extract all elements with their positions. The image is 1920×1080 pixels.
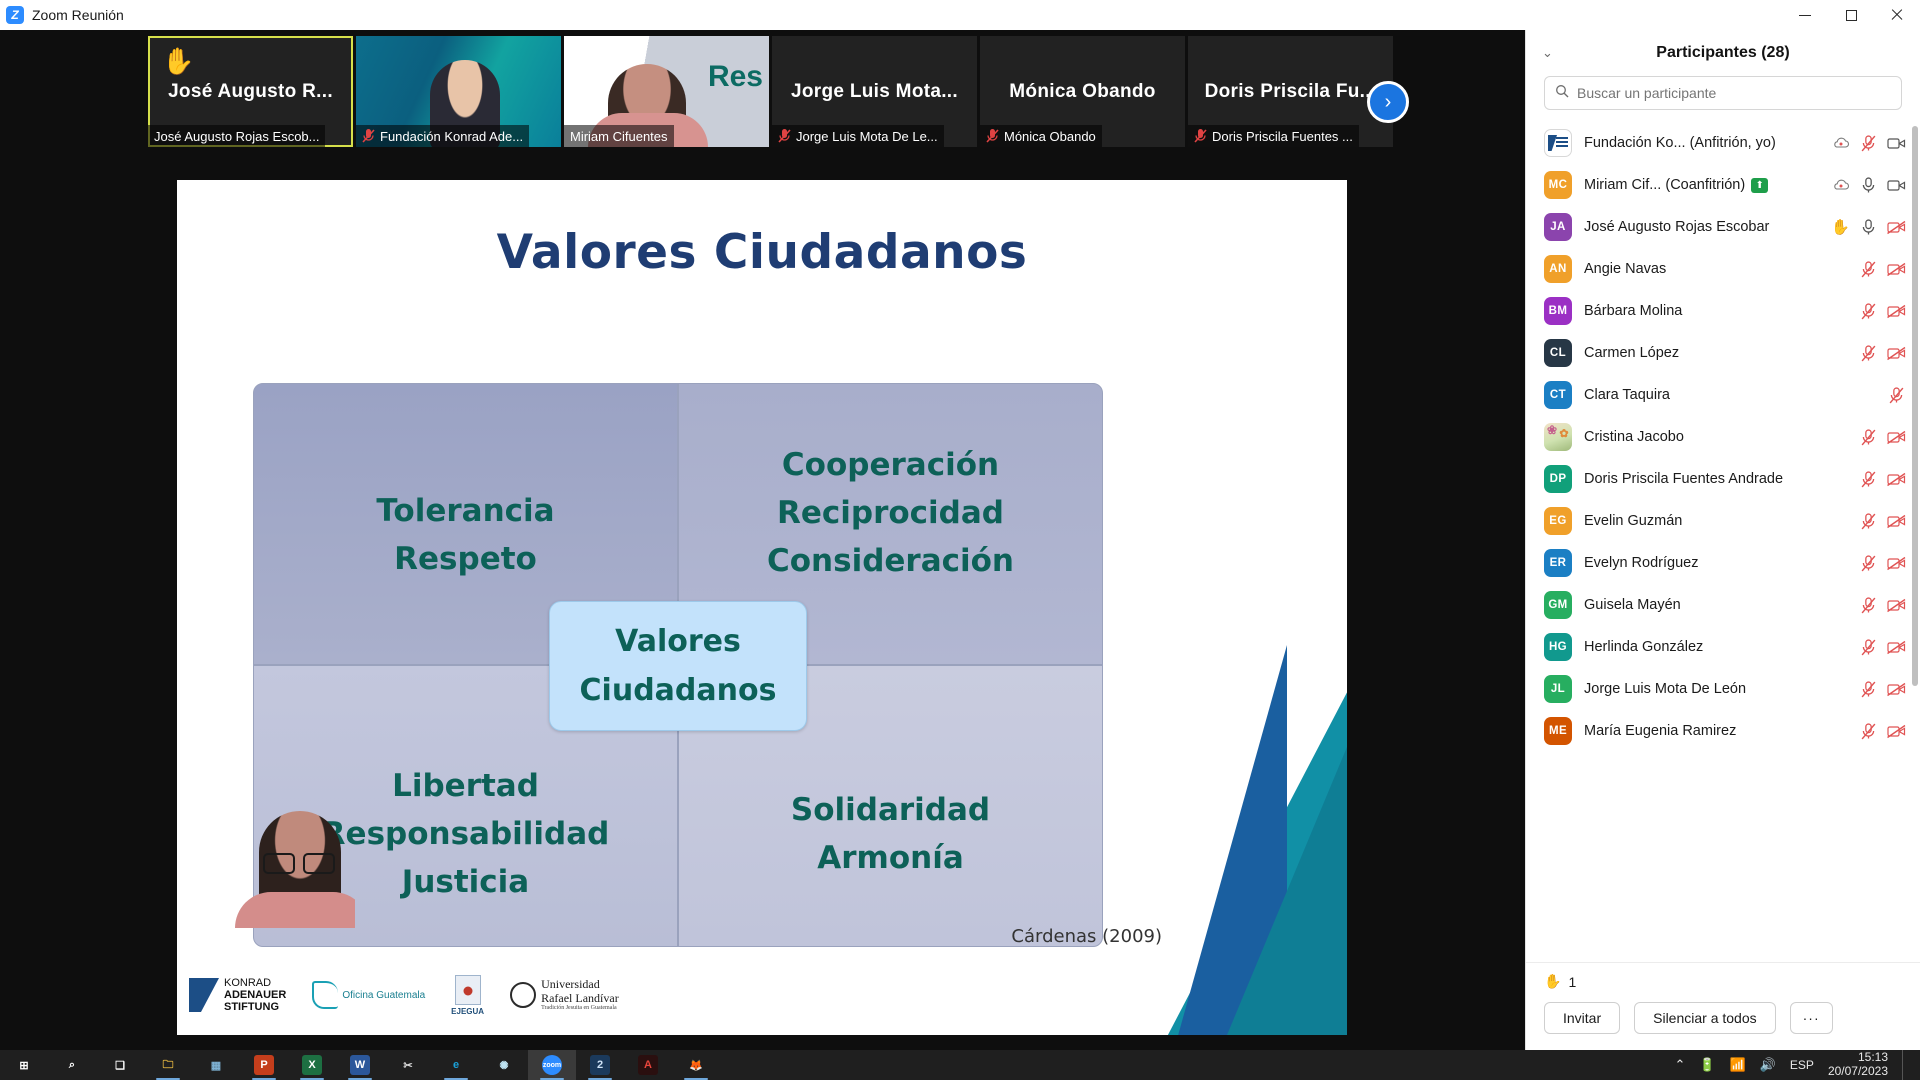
participant-status-icons — [1859, 344, 1906, 363]
participant-status-icons — [1859, 302, 1906, 321]
taskbar-calculator[interactable]: ▦ — [192, 1050, 240, 1080]
window-title-bar: Z Zoom Reunión — [0, 0, 1920, 30]
camera-off-icon[interactable] — [1887, 470, 1906, 489]
participant-search-box[interactable] — [1544, 76, 1902, 110]
taskbar-microsoft-edge[interactable]: e — [432, 1050, 480, 1080]
battery-icon[interactable]: 🔋 — [1699, 1057, 1715, 1073]
university-line-2: Rafael Landívar — [541, 992, 619, 1006]
camera-off-icon[interactable] — [1887, 344, 1906, 363]
participant-row[interactable]: CTClara Taquira — [1526, 374, 1920, 416]
taskbar-excel[interactable]: X — [288, 1050, 336, 1080]
thumbnail-display-name: José Augusto R... — [148, 81, 353, 103]
adobe-acrobat-icon: A — [638, 1055, 658, 1075]
muted-mic-icon[interactable] — [1859, 260, 1878, 279]
firefox-icon: 🦊 — [686, 1055, 706, 1075]
camera-off-icon[interactable] — [1887, 554, 1906, 573]
muted-mic-icon[interactable] — [1859, 596, 1878, 615]
participant-status-icons — [1887, 386, 1906, 405]
center-line-2: Ciudadanos — [580, 673, 777, 708]
participant-name: Guisela Mayén — [1584, 597, 1847, 613]
participant-name: Bárbara Molina — [1584, 303, 1847, 319]
participant-status-icons — [1859, 512, 1906, 531]
kas-line-2: ADENAUER — [224, 989, 286, 1001]
participant-name: Evelin Guzmán — [1584, 513, 1847, 529]
participant-row[interactable]: EREvelyn Rodríguez — [1526, 542, 1920, 584]
muted-mic-icon[interactable] — [1859, 680, 1878, 699]
raised-hand-icon: ✋ — [1831, 218, 1850, 237]
taskbar-zoom-app[interactable]: zoom — [528, 1050, 576, 1080]
thumbnail-display-name: Jorge Luis Mota... — [772, 81, 977, 103]
participant-row[interactable]: EGEvelin Guzmán — [1526, 500, 1920, 542]
quadrant-top-left-text: Tolerancia Respeto — [254, 487, 677, 583]
video-thumbnail[interactable]: Doris Priscila Fu... Doris Priscila Fuen… — [1188, 36, 1393, 147]
raised-hand-icon: ✋ — [162, 46, 194, 77]
filmstrip-next-button[interactable]: › — [1367, 81, 1409, 123]
participant-status-icons — [1859, 428, 1906, 447]
muted-mic-icon — [1194, 129, 1207, 143]
thumbnail-display-name: Doris Priscila Fu... — [1188, 81, 1393, 103]
taskbar-word[interactable]: W — [336, 1050, 384, 1080]
muted-mic-icon — [986, 129, 999, 143]
search-button-icon: ⌕ — [62, 1055, 82, 1075]
thumbnail-name-label: Doris Priscila Fuentes ... — [1212, 129, 1353, 144]
footer-buttons: Invitar Silenciar a todos ··· — [1544, 1002, 1902, 1034]
minimize-button[interactable] — [1782, 0, 1828, 30]
search-icon — [1555, 84, 1569, 103]
show-desktop-button[interactable] — [1902, 1050, 1908, 1080]
participant-row[interactable]: MEMaría Eugenia Ramirez — [1526, 710, 1920, 752]
quadrant-bottom-right-text: Solidaridad Armonía — [679, 786, 1102, 882]
participant-avatar: EG — [1544, 507, 1572, 535]
microsoft-edge-icon: e — [446, 1055, 466, 1075]
participant-status-icons — [1859, 596, 1906, 615]
konrad-adenauer-logo: KONRAD ADENAUER STIFTUNG — [189, 977, 286, 1014]
participant-role: (Coanfitrión) — [1661, 177, 1745, 193]
participant-row[interactable]: JAJosé Augusto Rojas Escobar✋ — [1526, 206, 1920, 248]
participant-status-icons: ✋ — [1831, 218, 1906, 237]
camera-off-icon[interactable] — [1887, 218, 1906, 237]
muted-mic-icon — [362, 129, 375, 143]
thumbnail-name-label: Mónica Obando — [1004, 129, 1096, 144]
participant-row[interactable]: MCMiriam Cif... (Coanfitrión)⬆ — [1526, 164, 1920, 206]
university-line-1: Universidad — [541, 978, 619, 992]
mute-all-button[interactable]: Silenciar a todos — [1634, 1002, 1776, 1034]
value-term: Tolerancia — [254, 487, 677, 535]
slide-citation: Cárdenas (2009) — [1011, 926, 1162, 947]
show-hidden-icons-chevron[interactable]: ⌃ — [1674, 1057, 1685, 1073]
wifi-icon[interactable]: 📶 — [1730, 1057, 1746, 1073]
quadrant-top-right-text: Cooperación Reciprocidad Consideración — [679, 441, 1102, 585]
muted-mic-icon[interactable] — [1859, 722, 1878, 741]
muted-mic-icon[interactable] — [1859, 638, 1878, 657]
muted-mic-icon[interactable] — [1859, 554, 1878, 573]
word-icon: W — [350, 1055, 370, 1075]
participant-avatar — [1544, 423, 1572, 451]
task-view-button-icon: ❑ — [110, 1055, 130, 1075]
center-line-1: Valores — [615, 624, 741, 659]
camera-off-icon[interactable] — [1887, 260, 1906, 279]
system-tray: ⌃ 🔋 📶 🔊 ESP 15:13 20/07/2023 — [1674, 1050, 1920, 1080]
participant-status-icons — [1859, 260, 1906, 279]
muted-mic-icon[interactable] — [1859, 470, 1878, 489]
maximize-button[interactable] — [1828, 0, 1874, 30]
camera-off-icon[interactable] — [1887, 428, 1906, 447]
taskbar-start-button[interactable]: ⊞ — [0, 1050, 48, 1080]
second-monitor-app-icon: 2 — [590, 1055, 610, 1075]
participant-row[interactable]: Fundación Ko... (Anfitrión, yo) — [1526, 122, 1920, 164]
participant-avatar: MC — [1544, 171, 1572, 199]
clock[interactable]: 15:13 20/07/2023 — [1828, 1051, 1888, 1079]
taskbar-snipping-tool[interactable]: ✂ — [384, 1050, 432, 1080]
camera-off-icon[interactable] — [1887, 512, 1906, 531]
participant-row[interactable]: HGHerlinda González — [1526, 626, 1920, 668]
raised-hands-counter: ✋ 1 — [1544, 973, 1902, 990]
participant-avatar: BM — [1544, 297, 1572, 325]
window-title: Zoom Reunión — [32, 7, 124, 23]
thumbnail-footer: Jorge Luis Mota De Le... — [772, 125, 944, 147]
muted-mic-icon[interactable] — [1887, 386, 1906, 405]
camera-off-icon[interactable] — [1887, 722, 1906, 741]
participant-name: Miriam Cif... (Coanfitrión)⬆ — [1584, 177, 1819, 193]
more-options-button[interactable]: ··· — [1790, 1002, 1833, 1034]
muted-mic-icon[interactable] — [1859, 344, 1878, 363]
clock-time: 15:13 — [1828, 1051, 1888, 1065]
mic-icon[interactable] — [1859, 218, 1878, 237]
slide-title: Valores Ciudadanos — [177, 225, 1347, 280]
participant-name: Angie Navas — [1584, 261, 1847, 277]
kas-line-1: KONRAD — [224, 977, 286, 989]
powerpoint-icon: P — [254, 1055, 274, 1075]
mesh-app-icon: ✺ — [494, 1055, 514, 1075]
thumbnail-name-label: Miriam Cifuentes — [570, 129, 668, 144]
camera-off-icon[interactable] — [1887, 596, 1906, 615]
participant-status-icons — [1831, 176, 1906, 195]
ejegua-logo: EJEGUA — [451, 975, 484, 1016]
windows-taskbar: ⊞⌕❑🗀▦PXW✂e✺zoom2A🦊 ⌃ 🔋 📶 🔊 ESP 15:13 20/… — [0, 1050, 1920, 1080]
speaker-video-overlay — [235, 801, 355, 928]
camera-icon[interactable] — [1887, 134, 1906, 153]
participant-role: (Anfitrión, yo) — [1686, 135, 1776, 151]
muted-mic-icon[interactable] — [1859, 512, 1878, 531]
value-term: Consideración — [679, 537, 1102, 585]
mic-icon[interactable] — [1859, 176, 1878, 195]
thumbnail-name-label: Fundación Konrad Ade... — [380, 129, 523, 144]
participants-scrollbar[interactable] — [1912, 126, 1918, 686]
search-input[interactable] — [1577, 85, 1891, 101]
participant-avatar: HG — [1544, 633, 1572, 661]
participant-name: Jorge Luis Mota De León — [1584, 681, 1847, 697]
value-term: Armonía — [679, 834, 1102, 882]
participants-panel-footer: ✋ 1 Invitar Silenciar a todos ··· — [1526, 962, 1920, 1050]
participant-status-icons — [1859, 470, 1906, 489]
participant-avatar: ER — [1544, 549, 1572, 577]
thumbnail-display-name: Mónica Obando — [980, 81, 1185, 103]
participant-status-icons — [1859, 722, 1906, 741]
thumbnail-footer: Doris Priscila Fuentes ... — [1188, 125, 1359, 147]
participants-panel-header: ⌄ Participantes (28) — [1526, 30, 1920, 76]
participants-list[interactable]: Fundación Ko... (Anfitrión, yo)MCMiriam … — [1526, 122, 1920, 962]
chevron-right-icon: › — [1385, 91, 1392, 114]
participant-name: Herlinda González — [1584, 639, 1847, 655]
video-thumbnail[interactable]: Fundación Konrad Ade... — [356, 36, 561, 147]
participant-row[interactable]: Cristina Jacobo — [1526, 416, 1920, 458]
muted-mic-icon[interactable] — [1859, 134, 1878, 153]
file-explorer-icon: 🗀 — [158, 1055, 178, 1075]
participant-avatar: AN — [1544, 255, 1572, 283]
taskbar-second-monitor-app[interactable]: 2 — [576, 1050, 624, 1080]
participant-search-wrapper — [1526, 76, 1920, 122]
video-thumbnail[interactable]: Res Miriam Cifuentes — [564, 36, 769, 147]
shared-slide: Valores Ciudadanos Tolerancia Respeto Co… — [177, 180, 1347, 1035]
participant-name: María Eugenia Ramirez — [1584, 723, 1847, 739]
value-term: Reciprocidad — [679, 489, 1102, 537]
thumbnail-name-label: José Augusto Rojas Escob... — [154, 129, 319, 144]
universidad-rafael-landivar-logo: Universidad Rafael Landívar Tradición Je… — [510, 978, 619, 1012]
participant-avatar: ME — [1544, 717, 1572, 745]
camera-off-icon[interactable] — [1887, 638, 1906, 657]
video-thumbnail[interactable]: Mónica Obando Mónica Obando — [980, 36, 1185, 147]
cloud-recording-icon — [1831, 134, 1850, 153]
language-indicator[interactable]: ESP — [1790, 1058, 1814, 1072]
thumbnail-footer: Miriam Cifuentes — [564, 125, 674, 147]
participant-avatar: CT — [1544, 381, 1572, 409]
camera-icon[interactable] — [1887, 176, 1906, 195]
muted-mic-icon[interactable] — [1859, 302, 1878, 321]
ejegua-label: EJEGUA — [451, 1007, 484, 1016]
zoom-logo-icon: Z — [6, 6, 24, 24]
participant-row[interactable]: GMGuisela Mayén — [1526, 584, 1920, 626]
zoom-meeting-window: Z Zoom Reunión ✋ José Augusto R... José … — [0, 0, 1920, 1080]
excel-icon: X — [302, 1055, 322, 1075]
kas-line-3: STIFTUNG — [224, 1001, 286, 1013]
participant-name: Fundación Ko... (Anfitrión, yo) — [1584, 135, 1819, 151]
participant-status-icons — [1831, 134, 1906, 153]
shared-screen-stage: Valores Ciudadanos Tolerancia Respeto Co… — [0, 147, 1520, 1050]
taskbar-task-view-button[interactable]: ❑ — [96, 1050, 144, 1080]
participant-row[interactable]: ANAngie Navas — [1526, 248, 1920, 290]
value-term: Cooperación — [679, 441, 1102, 489]
participant-avatar: CL — [1544, 339, 1572, 367]
participant-row[interactable]: CLCarmen López — [1526, 332, 1920, 374]
participant-name: Cristina Jacobo — [1584, 429, 1847, 445]
thumbnail-name-label: Jorge Luis Mota De Le... — [796, 129, 938, 144]
video-thumbnail[interactable]: Jorge Luis Mota... Jorge Luis Mota De Le… — [772, 36, 977, 147]
value-term: Respeto — [254, 535, 677, 583]
snipping-tool-icon: ✂ — [398, 1055, 418, 1075]
video-filmstrip: ✋ José Augusto R... José Augusto Rojas E… — [0, 30, 1520, 147]
taskbar-powerpoint[interactable]: P — [240, 1050, 288, 1080]
raised-hands-count: 1 — [1568, 974, 1576, 990]
participant-avatar: DP — [1544, 465, 1572, 493]
participant-status-icons — [1859, 638, 1906, 657]
calculator-icon: ▦ — [206, 1055, 226, 1075]
participant-name: Doris Priscila Fuentes Andrade — [1584, 471, 1847, 487]
participant-name: Clara Taquira — [1584, 387, 1875, 403]
participant-status-icons — [1859, 680, 1906, 699]
center-label-box: Valores Ciudadanos — [549, 601, 807, 731]
taskbar-mesh-app[interactable]: ✺ — [480, 1050, 528, 1080]
video-thumbnail[interactable]: ✋ José Augusto R... José Augusto Rojas E… — [148, 36, 353, 147]
taskbar-search-button[interactable]: ⌕ — [48, 1050, 96, 1080]
participants-panel: ⌄ Participantes (28) Fundación Ko... (An… — [1525, 30, 1920, 1050]
oficina-guatemala-label: Oficina Guatemala — [342, 990, 425, 1001]
chevron-down-icon[interactable]: ⌄ — [1542, 45, 1553, 61]
cloud-recording-icon — [1831, 176, 1850, 195]
participants-panel-title: Participantes (28) — [1526, 44, 1920, 62]
taskbar-adobe-acrobat[interactable]: A — [624, 1050, 672, 1080]
taskbar-firefox[interactable]: 🦊 — [672, 1050, 720, 1080]
thumbnail-list: ✋ José Augusto R... José Augusto Rojas E… — [148, 36, 1396, 147]
participant-avatar — [1544, 129, 1572, 157]
camera-off-icon[interactable] — [1887, 680, 1906, 699]
thumbnail-footer: José Augusto Rojas Escob... — [148, 125, 325, 147]
participant-row[interactable]: BMBárbara Molina — [1526, 290, 1920, 332]
participant-row[interactable]: JLJorge Luis Mota De León — [1526, 668, 1920, 710]
volume-icon[interactable]: 🔊 — [1760, 1057, 1776, 1073]
participant-avatar: JL — [1544, 675, 1572, 703]
participant-status-icons — [1859, 554, 1906, 573]
slide-logo-row: KONRAD ADENAUER STIFTUNG Oficina Guatema… — [189, 967, 619, 1023]
screen-share-badge-icon: ⬆ — [1751, 178, 1768, 193]
zoom-app-icon: zoom — [542, 1055, 562, 1075]
participant-avatar: GM — [1544, 591, 1572, 619]
close-button[interactable] — [1874, 0, 1920, 30]
muted-mic-icon[interactable] — [1859, 428, 1878, 447]
value-term: Solidaridad — [679, 786, 1102, 834]
thumbnail-footer: Fundación Konrad Ade... — [356, 125, 529, 147]
clock-date: 20/07/2023 — [1828, 1065, 1888, 1079]
thumbnail-footer: Mónica Obando — [980, 125, 1102, 147]
values-matrix: Tolerancia Respeto Cooperación Reciproci… — [253, 383, 1103, 948]
camera-off-icon[interactable] — [1887, 302, 1906, 321]
raised-hand-icon: ✋ — [1544, 973, 1561, 990]
taskbar-file-explorer[interactable]: 🗀 — [144, 1050, 192, 1080]
participant-row[interactable]: DPDoris Priscila Fuentes Andrade — [1526, 458, 1920, 500]
start-button-icon: ⊞ — [14, 1055, 34, 1075]
participant-name: Evelyn Rodríguez — [1584, 555, 1847, 571]
participant-name: José Augusto Rojas Escobar — [1584, 219, 1819, 235]
university-sub: Tradición Jesuita en Guatemala — [541, 1005, 619, 1012]
participant-name: Carmen López — [1584, 345, 1847, 361]
invite-button[interactable]: Invitar — [1544, 1002, 1620, 1034]
muted-mic-icon — [778, 129, 791, 143]
participant-avatar: JA — [1544, 213, 1572, 241]
oficina-guatemala-logo: Oficina Guatemala — [312, 981, 425, 1009]
